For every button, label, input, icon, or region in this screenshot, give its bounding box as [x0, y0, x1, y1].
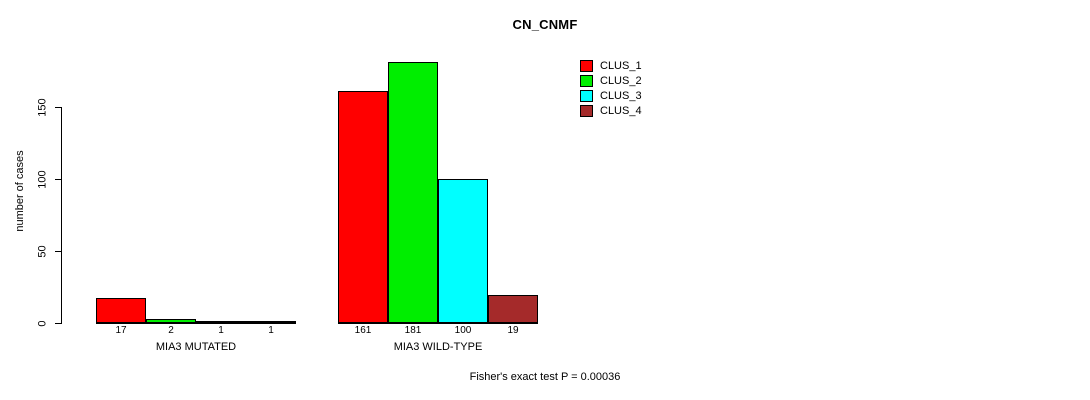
legend-label-clus4: CLUS_4 [600, 104, 642, 118]
y-tick-label-100: 100 [38, 160, 49, 200]
y-tick-0 [55, 323, 61, 324]
plot-area: 0 50 100 150 number of cases 17 2 1 1 MI… [0, 0, 580, 400]
group-label-wildtype: MIA3 WILD-TYPE [338, 341, 538, 353]
bar-mutated-clus1[interactable] [96, 298, 146, 323]
legend-swatch-icon-clus1 [580, 60, 593, 72]
legend-swatch-icon-clus4 [580, 105, 593, 117]
legend-label-clus1: CLUS_1 [600, 59, 642, 73]
bar-value-wildtype-clus2: 181 [388, 325, 438, 336]
legend-label-clus2: CLUS_2 [600, 74, 642, 88]
legend-item-clus3[interactable]: CLUS_3 [580, 89, 710, 104]
legend-label-clus3: CLUS_3 [600, 89, 642, 103]
y-axis-line [61, 107, 62, 324]
bar-wildtype-clus1[interactable] [338, 91, 388, 323]
legend-swatch-icon-clus2 [580, 75, 593, 87]
y-axis-title: number of cases [14, 136, 26, 246]
bar-wildtype-clus3[interactable] [438, 179, 488, 323]
legend-swatch-icon-clus3 [580, 90, 593, 102]
bar-value-mutated-clus1: 17 [96, 325, 146, 336]
legend-item-clus1[interactable]: CLUS_1 [580, 59, 710, 74]
bar-mutated-clus3[interactable] [196, 321, 246, 323]
bar-value-mutated-clus4: 1 [246, 325, 296, 336]
bar-wildtype-clus4[interactable] [488, 295, 538, 323]
legend-item-clus4[interactable]: CLUS_4 [580, 104, 710, 119]
chart-container: CN_CNMF 0 50 100 150 number of cases 17 … [0, 0, 1090, 400]
bar-value-mutated-clus2: 2 [146, 325, 196, 336]
bar-value-wildtype-clus1: 161 [338, 325, 388, 336]
bar-mutated-clus2[interactable] [146, 319, 196, 323]
bar-value-wildtype-clus4: 19 [488, 325, 538, 336]
y-tick-100 [55, 179, 61, 180]
legend-item-clus2[interactable]: CLUS_2 [580, 74, 710, 89]
y-tick-50 [55, 251, 61, 252]
bar-wildtype-clus2[interactable] [388, 62, 438, 323]
y-tick-label-0: 0 [38, 304, 49, 344]
y-tick-150 [55, 107, 61, 108]
y-tick-label-50: 50 [38, 232, 49, 272]
bar-value-wildtype-clus3: 100 [438, 325, 488, 336]
bar-mutated-clus4[interactable] [246, 321, 296, 323]
y-tick-label-150: 150 [38, 88, 49, 128]
group-label-mutated: MIA3 MUTATED [96, 341, 296, 353]
bar-value-mutated-clus3: 1 [196, 325, 246, 336]
statistical-test-annotation: Fisher's exact test P = 0.00036 [0, 371, 1090, 383]
legend: CLUS_1 CLUS_2 CLUS_3 CLUS_4 [580, 59, 710, 119]
